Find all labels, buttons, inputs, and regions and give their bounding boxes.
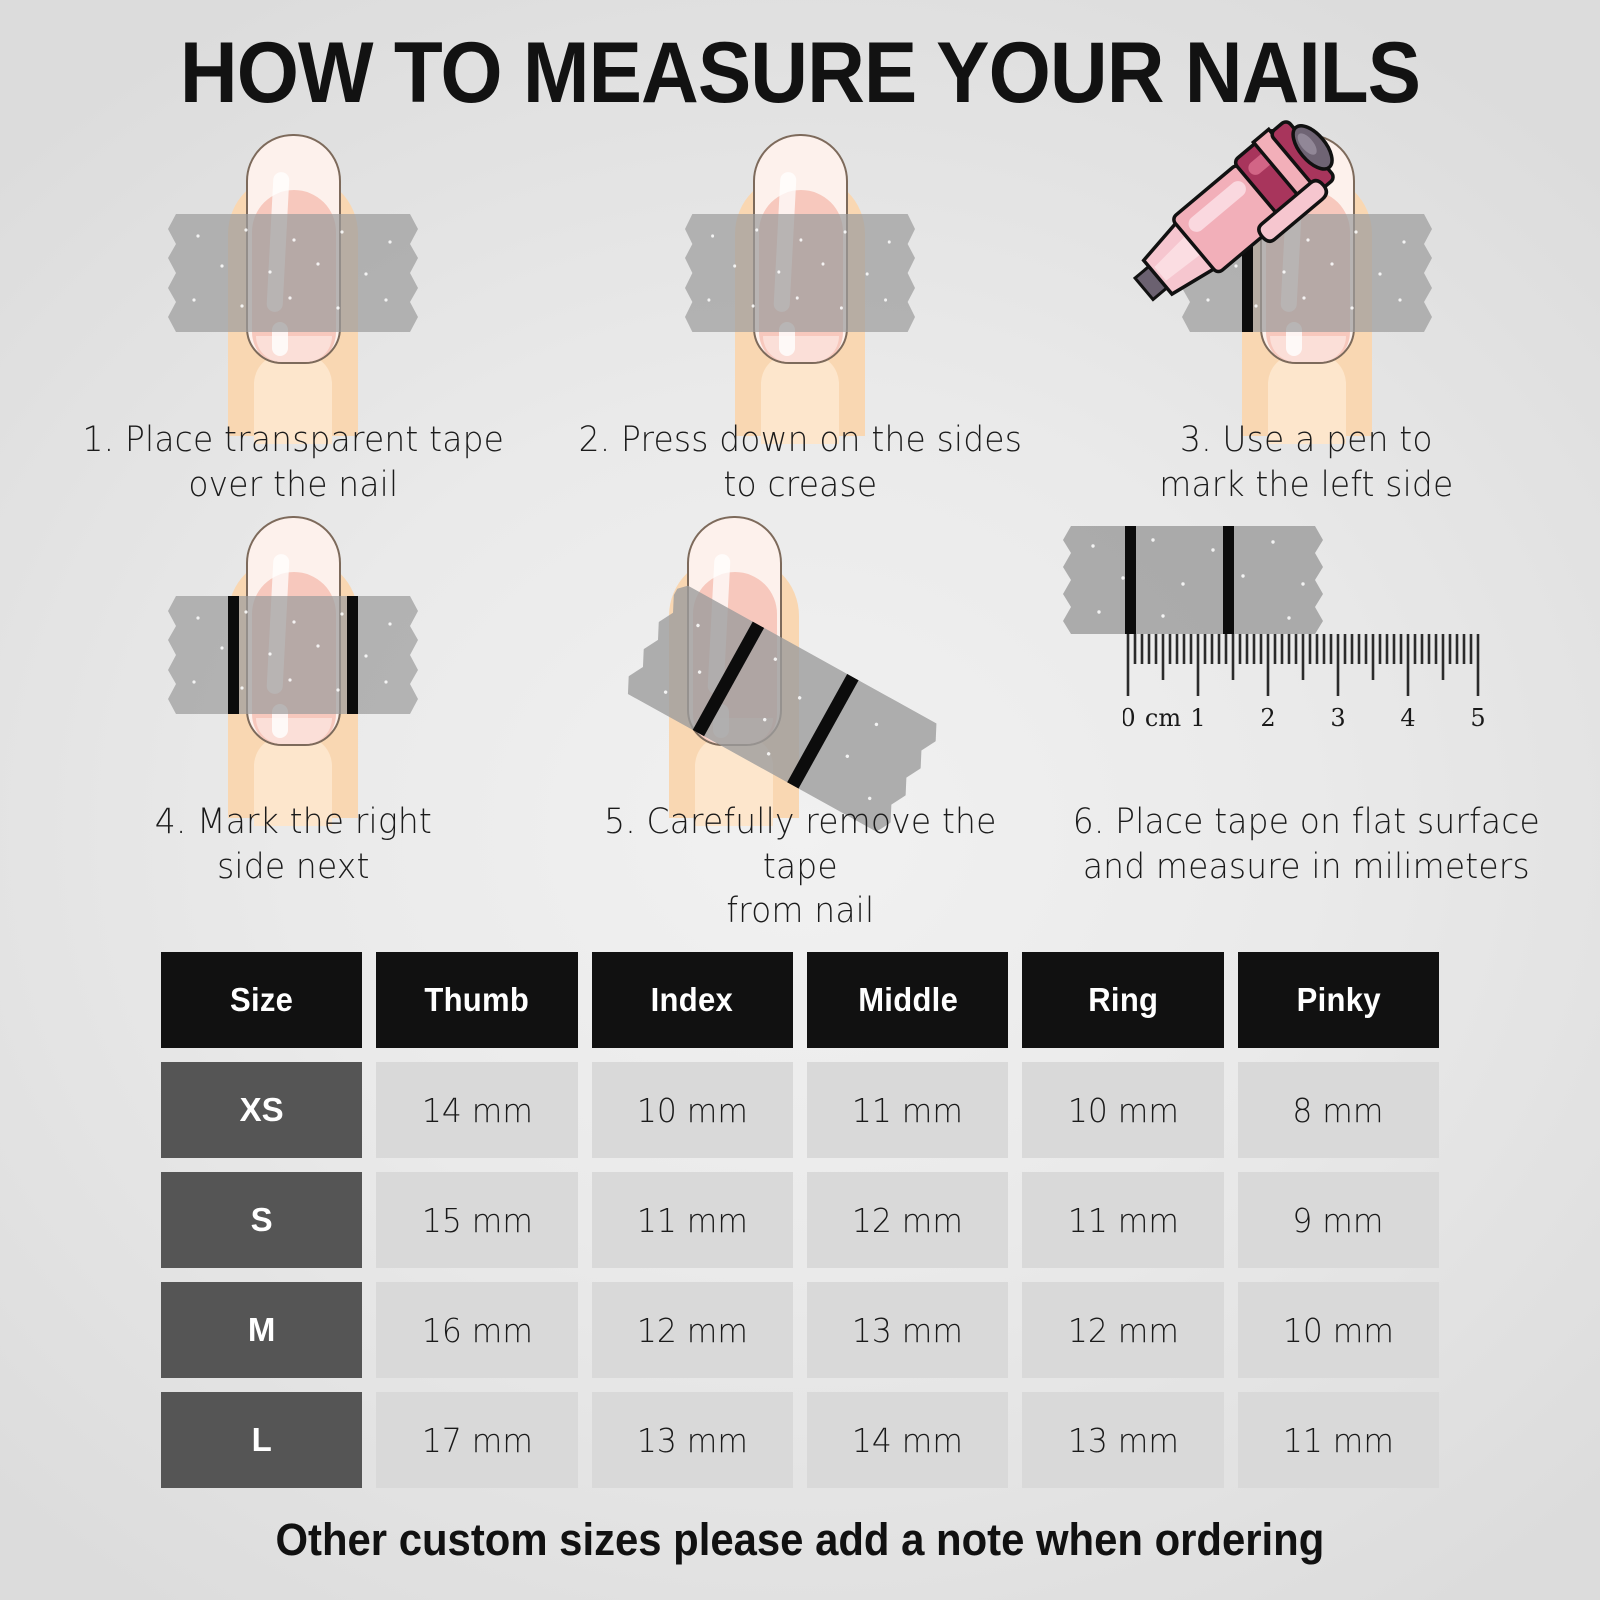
step-1-caption: 1. Place transparent tape over the nail — [40, 406, 547, 508]
step-4-caption-line2: side next — [55, 845, 531, 890]
step-1-caption-line2: over the nail — [55, 463, 531, 508]
finger-illustration — [228, 516, 358, 816]
step-5-caption-line2: from nail — [562, 889, 1038, 934]
step-6-caption-line1: 6. Place tape on flat surface — [1069, 800, 1545, 845]
nail-shine-small — [779, 322, 795, 356]
ruler-tick-3: 3 — [1331, 704, 1346, 732]
step-5-illustration — [547, 508, 1054, 788]
table-row: M — [161, 1282, 362, 1378]
step-4-illustration — [40, 508, 547, 788]
table-header-thumb: Thumb — [376, 952, 577, 1048]
table-cell: 15 mm — [376, 1172, 577, 1268]
step-6: 0 cm 1 2 3 4 5 6. Place tape on flat sur… — [1053, 508, 1560, 934]
table-cell: 9 mm — [1238, 1172, 1439, 1268]
table-cell: 10 mm — [1022, 1062, 1223, 1158]
table-cell: 13 mm — [1022, 1392, 1223, 1488]
step-3-caption: 3. Use a pen to mark the left side — [1053, 406, 1560, 508]
tape-mark-left — [1125, 526, 1136, 634]
step-2: 2. Press down on the sides to crease — [547, 126, 1054, 508]
step-4-caption: 4. Mark the right side next — [40, 788, 547, 890]
finger-illustration — [735, 134, 865, 434]
ruler-tick-4: 4 — [1401, 704, 1416, 732]
table-cell: 12 mm — [592, 1282, 793, 1378]
finger-illustration — [228, 134, 358, 434]
step-1: 1. Place transparent tape over the nail — [40, 126, 547, 508]
step-5: 5. Carefully remove the tape from nail — [547, 508, 1054, 934]
ruler-tick-2: 2 — [1261, 704, 1276, 732]
table-cell: 11 mm — [807, 1062, 1008, 1158]
table-header-size: Size — [161, 952, 362, 1048]
step-2-illustration — [547, 126, 1054, 406]
footer-note-label: Other custom sizes please add a note whe… — [276, 1514, 1325, 1566]
step-2-caption: 2. Press down on the sides to crease — [547, 406, 1054, 508]
step-4: 4. Mark the right side next — [40, 508, 547, 934]
table-cell: 12 mm — [1022, 1282, 1223, 1378]
table-cell: 11 mm — [1238, 1392, 1439, 1488]
nail-plate — [246, 134, 341, 364]
page-title: HOW TO MEASURE YOUR NAILS — [56, 0, 1544, 118]
nail-plate — [753, 134, 848, 364]
tape-mark-right — [1223, 526, 1234, 634]
step-6-illustration: 0 cm 1 2 3 4 5 — [1053, 508, 1560, 788]
table-cell: 10 mm — [1238, 1282, 1439, 1378]
table-header-index-label: Index — [651, 981, 733, 1019]
table-cell: 10 mm — [592, 1062, 793, 1158]
step-3-illustration — [1053, 126, 1560, 406]
table-cell: 11 mm — [1022, 1172, 1223, 1268]
table-header-ring-label: Ring — [1088, 981, 1158, 1019]
step-5-caption-line1: 5. Carefully remove the tape — [562, 800, 1038, 890]
step-6-caption: 6. Place tape on flat surface and measur… — [1053, 788, 1560, 890]
table-header-index: Index — [592, 952, 793, 1048]
table-row: S — [161, 1172, 362, 1268]
table-cell: 17 mm — [376, 1392, 577, 1488]
pen-icon — [1101, 110, 1351, 330]
table-header-ring: Ring — [1022, 952, 1223, 1048]
table-cell: 8 mm — [1238, 1062, 1439, 1158]
table-cell: 11 mm — [592, 1172, 793, 1268]
table-cell: 13 mm — [807, 1282, 1008, 1378]
step-1-caption-line1: 1. Place transparent tape — [55, 418, 531, 463]
table-cell: 14 mm — [807, 1392, 1008, 1488]
left-mark — [228, 596, 239, 714]
step-4-caption-line1: 4. Mark the right — [55, 800, 531, 845]
ruler-tick-0: 0 — [1123, 704, 1136, 732]
nail-plate — [246, 516, 341, 746]
ruler-tick-1: 1 — [1191, 704, 1206, 732]
table-header-middle: Middle — [807, 952, 1008, 1048]
table-cell: 14 mm — [376, 1062, 577, 1158]
step-6-caption-line2: and measure in milimeters — [1069, 845, 1545, 890]
steps-grid: 1. Place transparent tape over the nail — [0, 118, 1600, 934]
flat-tape-and-ruler: 0 cm 1 2 3 4 5 — [1063, 516, 1570, 776]
step-5-caption: 5. Carefully remove the tape from nail — [547, 788, 1054, 934]
table-cell: 13 mm — [592, 1392, 793, 1488]
step-3-caption-line1: 3. Use a pen to — [1069, 418, 1545, 463]
flat-tape — [1063, 526, 1323, 634]
table-row: L — [161, 1392, 362, 1488]
ruler: 0 cm 1 2 3 4 5 — [1123, 634, 1513, 754]
right-mark — [347, 596, 358, 714]
table-header-pinky-label: Pinky — [1296, 981, 1380, 1019]
footer-note: Other custom sizes please add a note whe… — [0, 1488, 1600, 1566]
table-row: XS — [161, 1062, 362, 1158]
table-header-middle-label: Middle — [858, 981, 958, 1019]
step-1-illustration — [40, 126, 547, 406]
table-cell: 16 mm — [376, 1282, 577, 1378]
table-cell: 12 mm — [807, 1172, 1008, 1268]
table-header-size-label: Size — [230, 981, 293, 1019]
table-header-thumb-label: Thumb — [425, 981, 530, 1019]
step-2-caption-line1: 2. Press down on the sides — [562, 418, 1038, 463]
step-3-caption-line2: mark the left side — [1069, 463, 1545, 508]
step-2-caption-line2: to crease — [562, 463, 1038, 508]
nail-shine-small — [272, 322, 288, 356]
nail-shine-small — [272, 704, 288, 738]
ruler-unit-label: cm — [1145, 704, 1181, 732]
size-chart-table: Size Thumb Index Middle Ring Pinky XS 14… — [161, 952, 1439, 1488]
step-3: 3. Use a pen to mark the left side — [1053, 126, 1560, 508]
ruler-tick-5: 5 — [1471, 704, 1486, 732]
table-header-pinky: Pinky — [1238, 952, 1439, 1048]
